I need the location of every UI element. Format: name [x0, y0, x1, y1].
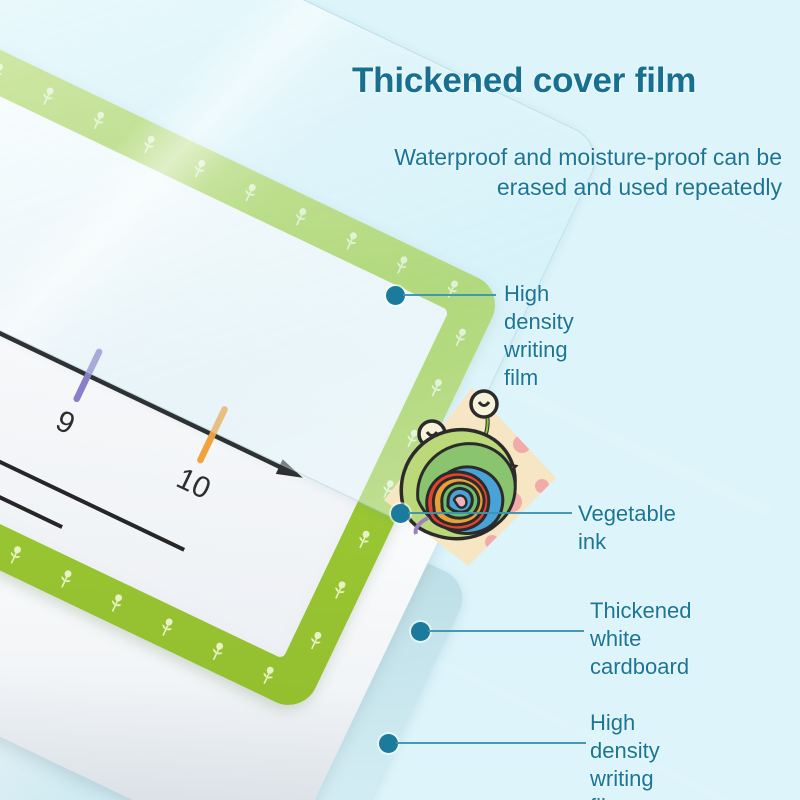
tulip-icon: [327, 576, 351, 602]
leader-line: [396, 742, 586, 744]
tulip-icon: [255, 662, 279, 688]
tulip-icon: [154, 613, 178, 639]
tulip-icon: [104, 589, 128, 615]
callout-label: Vegetable ink: [578, 500, 676, 556]
svg-text:10: 10: [171, 462, 215, 506]
tulip-icon: [53, 565, 77, 591]
svg-text:9: 9: [51, 404, 80, 441]
snail-icon: [372, 382, 562, 572]
infographic-canvas: 8 9 10: [0, 0, 800, 800]
page-title: Thickened cover film: [352, 62, 782, 101]
callout-label: Thickened white cardboard: [590, 597, 692, 681]
page-subtitle: Waterproof and moisture-proof can be era…: [352, 142, 782, 203]
callout-label: High density writing film: [590, 709, 660, 800]
leader-line: [408, 512, 572, 514]
tulip-icon: [3, 541, 27, 567]
leader-line: [428, 630, 584, 632]
callout-label: High density writing film: [504, 280, 574, 393]
tulip-icon: [205, 638, 229, 664]
leader-line: [403, 294, 496, 296]
tulip-icon: [303, 627, 327, 653]
